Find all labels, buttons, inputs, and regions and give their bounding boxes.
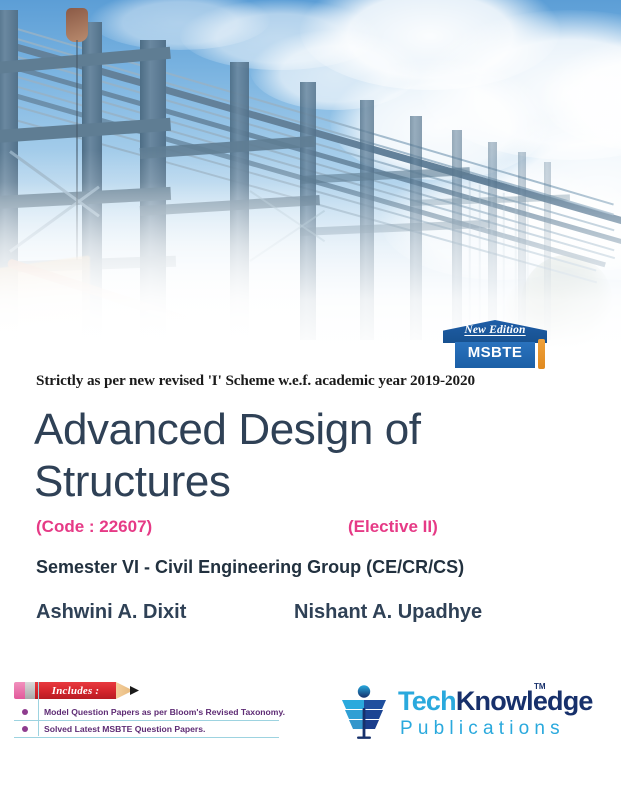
includes-heading: Includes :	[35, 683, 116, 700]
book-title: Advanced Design of Structures	[34, 404, 504, 508]
new-edition-msbte-badge: New Edition MSBTE	[443, 320, 547, 368]
includes-list: Model Question Papers as per Bloom's Rev…	[14, 704, 279, 738]
pencil-graphite-tip	[130, 686, 139, 695]
badge-new-edition-label: New Edition	[443, 324, 547, 336]
list-item: Model Question Papers as per Bloom's Rev…	[14, 704, 279, 721]
trademark-symbol: TM	[534, 682, 546, 691]
badge-msbte-label: MSBTE	[455, 344, 535, 361]
publisher-subtitle: Publications	[400, 718, 565, 740]
techknowledge-emblem-icon	[336, 684, 392, 742]
includes-box: Includes : Model Question Papers as per …	[14, 682, 279, 744]
book-cover: New Edition MSBTE Strictly as per new re…	[0, 0, 621, 800]
bullet-icon	[22, 726, 28, 732]
crane-hook	[66, 8, 88, 42]
publisher-word-tech: Tech	[398, 686, 456, 716]
hero-photo	[0, 0, 621, 372]
includes-item-label: Model Question Papers as per Bloom's Rev…	[44, 704, 285, 720]
list-item: Solved Latest MSBTE Question Papers.	[14, 721, 279, 738]
publisher-logo: TechKnowledge TM Publications	[336, 682, 556, 746]
authors-row: Ashwini A. Dixit Nishant A. Upadhye	[36, 601, 536, 627]
elective-label: (Elective II)	[348, 517, 438, 537]
semester-branch: Semester VI - Civil Engineering Group (C…	[36, 557, 464, 578]
author-name: Nishant A. Upadhye	[294, 601, 482, 624]
pencil-icon: Includes :	[14, 682, 146, 699]
pencil-eraser	[14, 682, 25, 699]
scheme-note: Strictly as per new revised 'I' Scheme w…	[36, 372, 475, 390]
subject-code: (Code : 22607)	[36, 517, 152, 537]
pencil-ferrule	[25, 682, 35, 699]
includes-item-label: Solved Latest MSBTE Question Papers.	[44, 721, 205, 737]
author-name: Ashwini A. Dixit	[36, 601, 186, 624]
bullet-icon	[22, 709, 28, 715]
publisher-wordmark: TechKnowledge	[398, 686, 593, 717]
publisher-word-knowledge: Knowledge	[456, 686, 593, 716]
tassel-icon	[538, 339, 545, 369]
code-elective-row: (Code : 22607) (Elective II)	[36, 517, 506, 541]
